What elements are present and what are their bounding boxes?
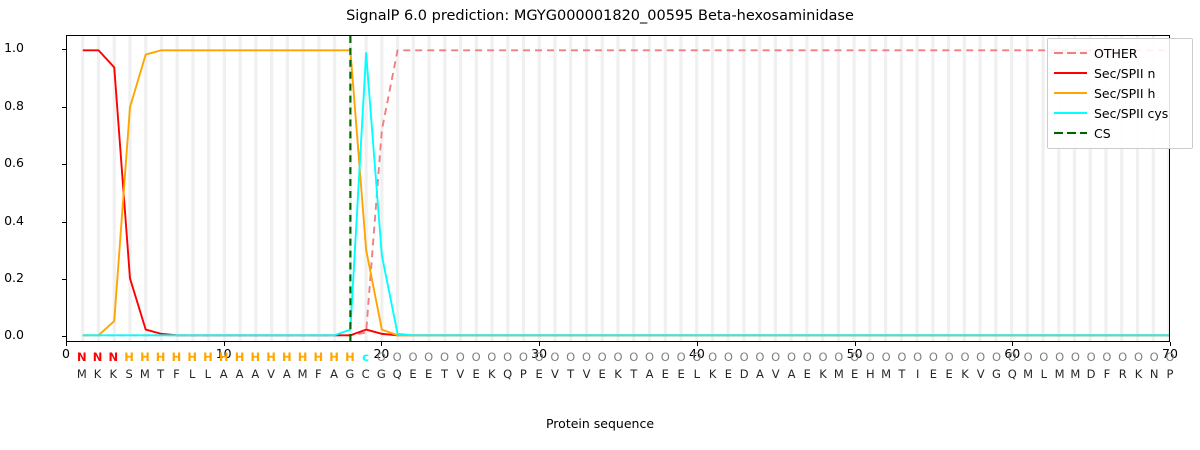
sequence-annotation: H [279, 352, 295, 364]
sequence-residue: E [673, 369, 689, 381]
sequence-residue: E [925, 369, 941, 381]
sequence-annotation: O [1162, 352, 1178, 364]
sequence-residue: M [137, 369, 153, 381]
sequence-residue: T [153, 369, 169, 381]
sequence-annotation: H [216, 352, 232, 364]
legend-item[interactable]: CS [1053, 123, 1187, 143]
sequence-residue: K [1131, 369, 1147, 381]
sequence-annotation: O [1083, 352, 1099, 364]
sequence-residue: H [862, 369, 878, 381]
sequence-residue: K [610, 369, 626, 381]
sequence-residue: E [847, 369, 863, 381]
sequence-residue: E [594, 369, 610, 381]
sequence-residue: K [484, 369, 500, 381]
sequence-annotation: H [247, 352, 263, 364]
sequence-residue: P [1162, 369, 1178, 381]
sequence-residue: V [768, 369, 784, 381]
sequence-annotation: O [689, 352, 705, 364]
sequence-annotation: O [531, 352, 547, 364]
sequence-residue: E [657, 369, 673, 381]
sequence-annotation: H [200, 352, 216, 364]
sequence-residue: K [815, 369, 831, 381]
sequence-annotation: O [736, 352, 752, 364]
y-tick-label: 0.2 [0, 272, 24, 285]
sequence-residue: Q [500, 369, 516, 381]
sequence-residue: F [1099, 369, 1115, 381]
sequence-residue: K [90, 369, 106, 381]
sequence-residue: A [752, 369, 768, 381]
sequence-annotation: O [831, 352, 847, 364]
sequence-residue: C [358, 369, 374, 381]
x-tick-mark [66, 342, 67, 346]
sequence-annotation: O [720, 352, 736, 364]
sequence-annotation: O [1052, 352, 1068, 364]
sequence-annotation: O [594, 352, 610, 364]
sequence-annotation: H [153, 352, 169, 364]
sequence-residue: L [1036, 369, 1052, 381]
y-tick-label: 1.0 [0, 42, 24, 55]
series-line [83, 50, 1169, 335]
sequence-residue: E [468, 369, 484, 381]
legend-item[interactable]: Sec/SPII n [1053, 63, 1187, 83]
sequence-annotation: O [894, 352, 910, 364]
y-tick-label: 0.8 [0, 100, 24, 113]
sequence-residue: F [168, 369, 184, 381]
sequence-residue: R [1115, 369, 1131, 381]
sequence-annotation: H [295, 352, 311, 364]
sequence-annotation: H [342, 352, 358, 364]
sequence-residue: S [121, 369, 137, 381]
sequence-residue: V [452, 369, 468, 381]
sequence-residue: K [105, 369, 121, 381]
sequence-annotation: H [326, 352, 342, 364]
sequence-annotation: O [452, 352, 468, 364]
sequence-residue: E [421, 369, 437, 381]
legend-swatch [1053, 106, 1087, 120]
series-line [83, 50, 1169, 335]
sequence-residue: P [515, 369, 531, 381]
x-tick-mark [1012, 342, 1013, 346]
legend-item[interactable]: Sec/SPII h [1053, 83, 1187, 103]
sequence-residue: T [437, 369, 453, 381]
sequence-annotation: H [137, 352, 153, 364]
legend-swatch [1053, 66, 1087, 80]
x-axis-label: Protein sequence [0, 416, 1200, 431]
sequence-annotation: O [989, 352, 1005, 364]
sequence-residue: T [894, 369, 910, 381]
sequence-annotation: O [515, 352, 531, 364]
sequence-annotation: O [1067, 352, 1083, 364]
sequence-residue: L [184, 369, 200, 381]
sequence-residue: V [547, 369, 563, 381]
sequence-annotation: O [752, 352, 768, 364]
sequence-annotation: O [973, 352, 989, 364]
sequence-annotation: O [941, 352, 957, 364]
sequence-residue: T [563, 369, 579, 381]
sequence-residue: G [989, 369, 1005, 381]
sequence-annotation: c [358, 352, 374, 364]
sequence-annotation: O [626, 352, 642, 364]
sequence-residue: E [799, 369, 815, 381]
sequence-annotation: N [74, 352, 90, 364]
sequence-residue: Q [389, 369, 405, 381]
sequence-annotation: O [437, 352, 453, 364]
sequence-residue: A [247, 369, 263, 381]
sequence-residue: E [941, 369, 957, 381]
sequence-residue: G [342, 369, 358, 381]
legend-label: Sec/SPII h [1094, 86, 1155, 101]
sequence-annotation: O [862, 352, 878, 364]
plot-area [66, 35, 1170, 342]
sequence-residue: M [878, 369, 894, 381]
sequence-annotation: O [1131, 352, 1147, 364]
sequence-annotation: N [105, 352, 121, 364]
sequence-annotation: O [768, 352, 784, 364]
legend-label: CS [1094, 126, 1111, 141]
sequence-residue: Q [1004, 369, 1020, 381]
sequence-annotation: O [957, 352, 973, 364]
sequence-annotation: H [184, 352, 200, 364]
sequence-residue: D [736, 369, 752, 381]
x-tick-mark [855, 342, 856, 346]
sequence-annotation: O [373, 352, 389, 364]
sequence-residue: A [326, 369, 342, 381]
sequence-residue: M [295, 369, 311, 381]
sequence-annotation: H [168, 352, 184, 364]
legend-label: Sec/SPII cys [1094, 106, 1168, 121]
sequence-residue: F [310, 369, 326, 381]
sequence-residue: V [579, 369, 595, 381]
sequence-residue: A [642, 369, 658, 381]
sequence-residue: D [1083, 369, 1099, 381]
sequence-annotation: O [642, 352, 658, 364]
sequence-annotation: O [799, 352, 815, 364]
sequence-annotation: H [232, 352, 248, 364]
x-tick-mark [381, 342, 382, 346]
sequence-annotation: O [815, 352, 831, 364]
sequence-residue: V [973, 369, 989, 381]
sequence-annotation: O [1004, 352, 1020, 364]
sequence-residue: L [200, 369, 216, 381]
sequence-annotation: O [847, 352, 863, 364]
y-tick-label: 0.6 [0, 157, 24, 170]
sequence-annotation: O [1115, 352, 1131, 364]
sequence-annotation: O [673, 352, 689, 364]
sequence-residue: M [74, 369, 90, 381]
x-tick-mark [224, 342, 225, 346]
legend-label: OTHER [1094, 46, 1137, 61]
sequence-residue: M [1020, 369, 1036, 381]
sequence-residue: G [373, 369, 389, 381]
sequence-residue: I [910, 369, 926, 381]
sequence-annotation: O [910, 352, 926, 364]
sequence-annotation: O [925, 352, 941, 364]
sequence-residue: L [689, 369, 705, 381]
sequence-annotation: O [610, 352, 626, 364]
sequence-annotation: O [657, 352, 673, 364]
sequence-annotation: O [878, 352, 894, 364]
sequence-annotation: O [784, 352, 800, 364]
sequence-annotation: O [579, 352, 595, 364]
sequence-residue: M [1052, 369, 1068, 381]
sequence-annotation: O [405, 352, 421, 364]
sequence-annotation: O [421, 352, 437, 364]
sequence-residue: E [405, 369, 421, 381]
sequence-residue: A [784, 369, 800, 381]
sequence-annotation: N [90, 352, 106, 364]
x-tick-mark [539, 342, 540, 346]
sequence-annotation: H [310, 352, 326, 364]
sequence-annotation: O [500, 352, 516, 364]
sequence-annotation: O [1020, 352, 1036, 364]
sequence-annotation: O [468, 352, 484, 364]
legend-swatch [1053, 86, 1087, 100]
x-tick-mark [697, 342, 698, 346]
legend-swatch [1053, 46, 1087, 60]
sequence-annotation: O [563, 352, 579, 364]
sequence-residue: V [263, 369, 279, 381]
data-series-layer [67, 36, 1169, 341]
sequence-residue: A [216, 369, 232, 381]
sequence-residue: A [232, 369, 248, 381]
y-tick-label: 0.4 [0, 215, 24, 228]
series-line [83, 50, 1169, 335]
sequence-annotation: O [1146, 352, 1162, 364]
sequence-residue: N [1146, 369, 1162, 381]
sequence-annotation: O [389, 352, 405, 364]
sequence-residue: M [1067, 369, 1083, 381]
legend[interactable]: OTHERSec/SPII nSec/SPII hSec/SPII cysCS [1047, 38, 1193, 149]
legend-swatch [1053, 126, 1087, 140]
legend-item[interactable]: Sec/SPII cys [1053, 103, 1187, 123]
sequence-residue: E [720, 369, 736, 381]
sequence-residue: K [705, 369, 721, 381]
chart-title: SignalP 6.0 prediction: MGYG000001820_00… [0, 8, 1200, 24]
sequence-annotation: O [547, 352, 563, 364]
sequence-residue: E [531, 369, 547, 381]
sequence-residue: T [626, 369, 642, 381]
legend-item[interactable]: OTHER [1053, 43, 1187, 63]
sequence-residue: M [831, 369, 847, 381]
sequence-residue: A [279, 369, 295, 381]
sequence-annotation: H [121, 352, 137, 364]
signalp-prediction-figure: SignalP 6.0 prediction: MGYG000001820_00… [0, 0, 1200, 450]
sequence-annotation: O [484, 352, 500, 364]
x-tick-mark [1170, 342, 1171, 346]
sequence-annotation: O [1036, 352, 1052, 364]
sequence-annotation: H [263, 352, 279, 364]
sequence-annotation: O [705, 352, 721, 364]
sequence-annotation: O [1099, 352, 1115, 364]
sequence-residue: K [957, 369, 973, 381]
series-line [83, 53, 1169, 335]
legend-label: Sec/SPII n [1094, 66, 1155, 81]
y-tick-label: 0.0 [0, 329, 24, 342]
